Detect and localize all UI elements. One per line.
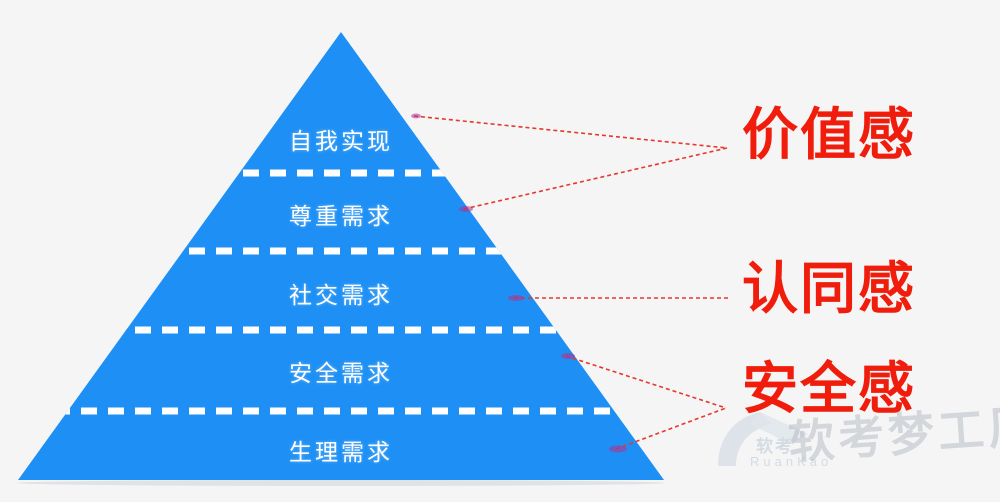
tier-label-esteem: 尊重需求 (289, 197, 393, 231)
callout-security: 安全感 (742, 362, 916, 418)
pyramid-shape (0, 0, 700, 502)
pyramid-base-shadow (17, 480, 665, 486)
callout-identity: 认同感 (742, 262, 916, 318)
tier-label-social: 社交需求 (289, 276, 393, 310)
tier-label-physiological: 生理需求 (289, 433, 393, 467)
watermark-logo-cn: 软考 (756, 432, 794, 457)
maslow-pyramid: 自我实现 尊重需求 社交需求 安全需求 生理需求 (0, 0, 700, 502)
image-canvas: 自我实现 尊重需求 社交需求 安全需求 生理需求 价值 (0, 0, 1000, 502)
diagram-stage: 自我实现 尊重需求 社交需求 安全需求 生理需求 价值 (0, 0, 1000, 502)
tier-label-safety: 安全需求 (289, 354, 393, 388)
callout-value: 价值感 (742, 108, 916, 164)
tier-label-self-actualization: 自我实现 (289, 122, 393, 156)
watermark-logo-en: RuanKao (750, 454, 832, 469)
